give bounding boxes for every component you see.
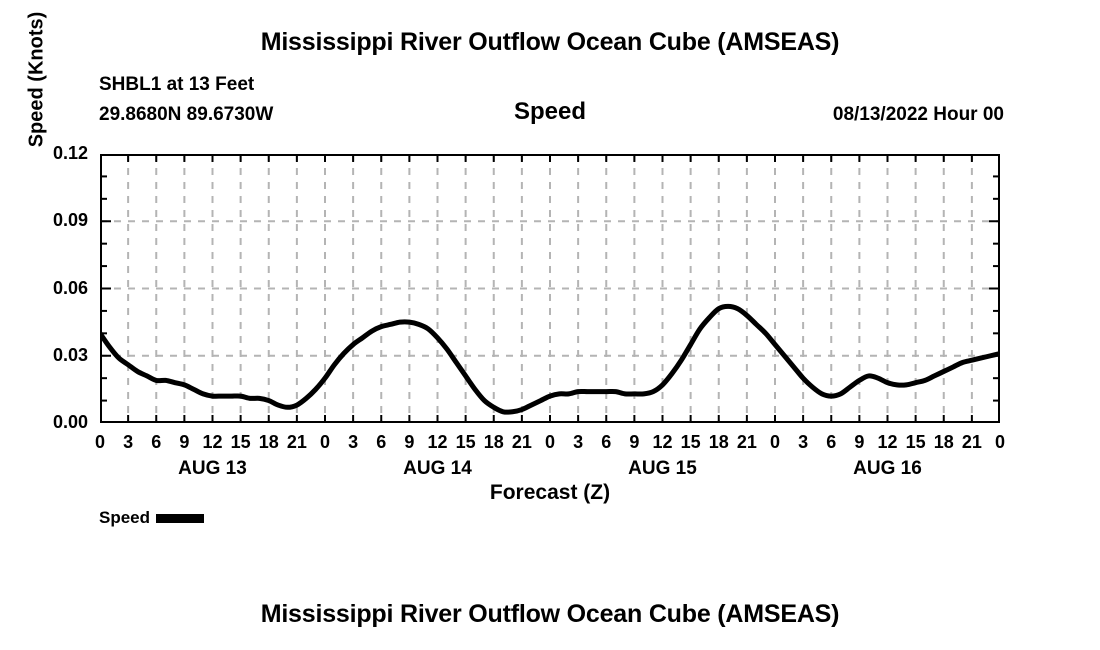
x-tick-label: 0 xyxy=(982,432,1018,453)
axis-right-border xyxy=(998,154,1000,423)
chart-canvas xyxy=(100,154,1000,423)
chart-page: Mississippi River Outflow Ocean Cube (AM… xyxy=(0,0,1100,650)
legend: Speed xyxy=(99,508,204,528)
station-label: SHBL1 at 13 Feet xyxy=(99,74,254,96)
page-title-top: Mississippi River Outflow Ocean Cube (AM… xyxy=(0,28,1100,57)
x-axis-day-label: AUG 13 xyxy=(143,458,283,480)
x-axis-day-label: AUG 15 xyxy=(593,458,733,480)
y-tick-label: 0.09 xyxy=(8,211,88,229)
y-tick-label: 0.00 xyxy=(8,413,88,431)
y-tick-label: 0.12 xyxy=(8,144,88,162)
axis-top-border xyxy=(100,154,1000,156)
forecast-datetime-label: 08/13/2022 Hour 00 xyxy=(833,104,1004,126)
axis-left-border xyxy=(100,154,102,423)
x-axis-day-label: AUG 16 xyxy=(818,458,958,480)
page-title-bottom: Mississippi River Outflow Ocean Cube (AM… xyxy=(0,600,1100,629)
legend-swatch-speed xyxy=(156,514,204,523)
x-axis-title: Forecast (Z) xyxy=(0,481,1100,505)
plot-area xyxy=(100,154,1000,423)
y-tick-label: 0.06 xyxy=(8,279,88,297)
x-axis-day-label: AUG 14 xyxy=(368,458,508,480)
y-axis-title: Speed (Knots) xyxy=(26,0,49,160)
legend-label-speed: Speed xyxy=(99,508,150,528)
axis-bottom-border xyxy=(100,421,1000,423)
gridlines xyxy=(100,154,1000,423)
y-tick-label: 0.03 xyxy=(8,346,88,364)
